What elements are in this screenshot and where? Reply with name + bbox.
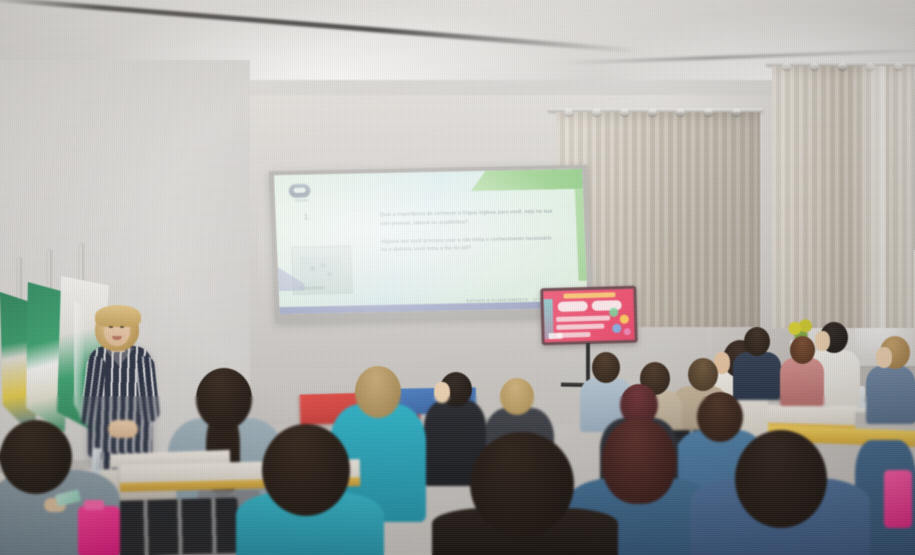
tv-screen <box>543 289 634 342</box>
slide-logo-caption: SENAC <box>287 199 317 204</box>
tv-screen-logo-badge <box>548 333 562 339</box>
attendee-dark-hair-head <box>470 432 574 536</box>
attendee-phone-user-head <box>0 420 72 494</box>
attendee-mid-6-head <box>196 368 252 430</box>
photo-scene: SENAC 1. Qual a importância de conhecer … <box>0 0 915 555</box>
slide-accent-band <box>470 169 583 191</box>
attendee-back-6-torso <box>780 358 824 406</box>
attendee-front-2-head <box>262 424 350 516</box>
presenter-hair-front <box>95 305 141 327</box>
tv-screen-text-line-1 <box>556 315 610 322</box>
slide-question-2: Alguma vez você precisou usar e não tinh… <box>381 234 558 255</box>
tv-screen-chip-1 <box>558 301 588 312</box>
pink-water-bottle-cap <box>84 500 104 510</box>
attendee-back-5-torso <box>866 366 915 424</box>
attendee-back-6-head <box>790 336 815 364</box>
slide-body-text: Qual a importância de conhecer a língua … <box>380 207 558 264</box>
attendee-front-5-head <box>735 430 827 528</box>
tv-screen-title-bar <box>563 292 615 298</box>
tv-screen-graphic <box>606 303 633 340</box>
slide-number: 1. <box>304 213 312 222</box>
slide-question-1: Qual a importância de conhecer a língua … <box>380 207 557 228</box>
attendee-front-4-head <box>602 418 676 504</box>
curtain-right-shading <box>772 66 914 328</box>
attendee-back-3-torso <box>733 352 781 400</box>
attendee-back-2-head <box>688 358 718 391</box>
slide-accent-side <box>575 189 587 281</box>
presenter-eye-right <box>120 326 124 328</box>
attendee-back-8-head <box>592 352 620 383</box>
presenter-eye-left <box>109 326 113 328</box>
window-right-daylight <box>856 66 886 328</box>
attendee-back-3-head <box>744 327 770 356</box>
attendee-teal-cardigan-head <box>355 366 401 418</box>
attendee-back-5-face <box>876 347 892 368</box>
tv-monitor <box>540 286 638 346</box>
pink-water-bottle <box>78 506 120 555</box>
presenter-hands <box>108 420 138 438</box>
attendee-mid-3-head <box>500 378 534 415</box>
pink-tumbler <box>884 470 912 528</box>
slide-illustration-sketch <box>299 256 342 287</box>
attendee-mid-4-face <box>434 382 450 403</box>
slide-logo-inner <box>294 188 306 193</box>
attendee-back-4-face <box>815 331 830 351</box>
attendee-mid-1-head <box>697 392 743 442</box>
tv-screen-text-line-2 <box>556 324 604 330</box>
